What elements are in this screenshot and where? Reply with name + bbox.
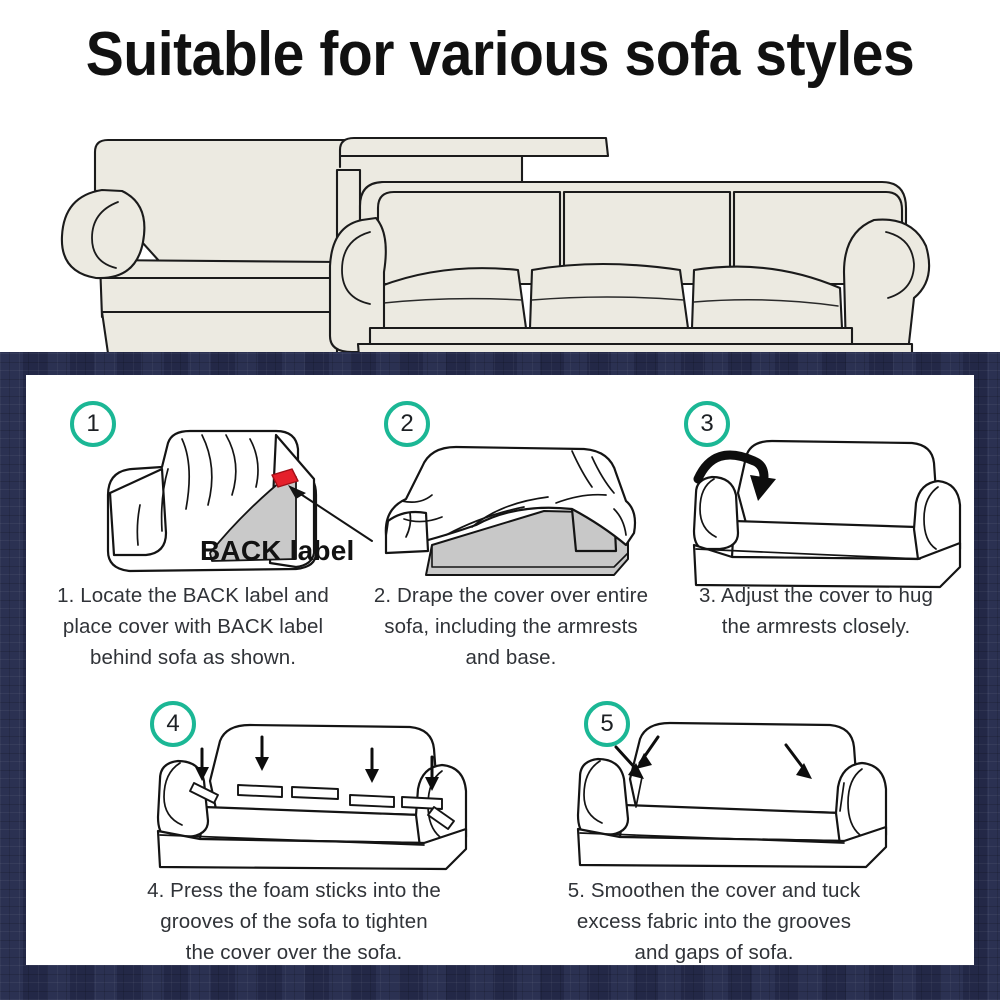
step-4: 4 [114,697,474,957]
caption-line: 3. Adjust the cover to hug [666,580,966,611]
caption-line: the armrests closely. [666,611,966,642]
back-label-callout: BACK label [200,535,354,567]
step-4-illustration [142,707,482,872]
caption-line: grooves of the sofa to tighten [104,906,484,937]
step-1-caption: 1. Locate the BACK label and place cover… [38,580,348,673]
instruction-panel-frame: 1 [0,352,1000,1000]
caption-line: place cover with BACK label [38,611,348,642]
caption-line: and base. [356,642,666,673]
step-2-caption: 2. Drape the cover over entire sofa, inc… [356,580,666,673]
instruction-panel: 1 [26,375,974,965]
hero-section: Suitable for various sofa styles [0,0,1000,352]
step-2: 2 [356,395,666,665]
caption-line: 1. Locate the BACK label and [38,580,348,611]
step-3-illustration [676,417,976,592]
page-title: Suitable for various sofa styles [40,24,960,86]
step-2-illustration [376,417,676,592]
step-3: 3 [666,395,966,665]
step-1-illustration [90,413,400,598]
hero-sofa-illustration [40,112,960,352]
step-3-caption: 3. Adjust the cover to hug the armrests … [666,580,966,642]
caption-line: excess fabric into the grooves [514,906,914,937]
step-5-caption: 5. Smoothen the cover and tuck excess fa… [514,875,914,968]
caption-line: and gaps of sofa. [514,937,914,968]
caption-line: 2. Drape the cover over entire [356,580,666,611]
caption-line: the cover over the sofa. [104,937,484,968]
step-5: 5 [526,697,906,957]
infographic-page: Suitable for various sofa styles [0,0,1000,1000]
caption-line: 5. Smoothen the cover and tuck [514,875,914,906]
caption-line: behind sofa as shown. [38,642,348,673]
step-1: 1 [38,395,348,665]
step-4-caption: 4. Press the foam sticks into the groove… [104,875,484,968]
step-5-illustration [558,707,898,872]
caption-line: 4. Press the foam sticks into the [104,875,484,906]
caption-line: sofa, including the armrests [356,611,666,642]
